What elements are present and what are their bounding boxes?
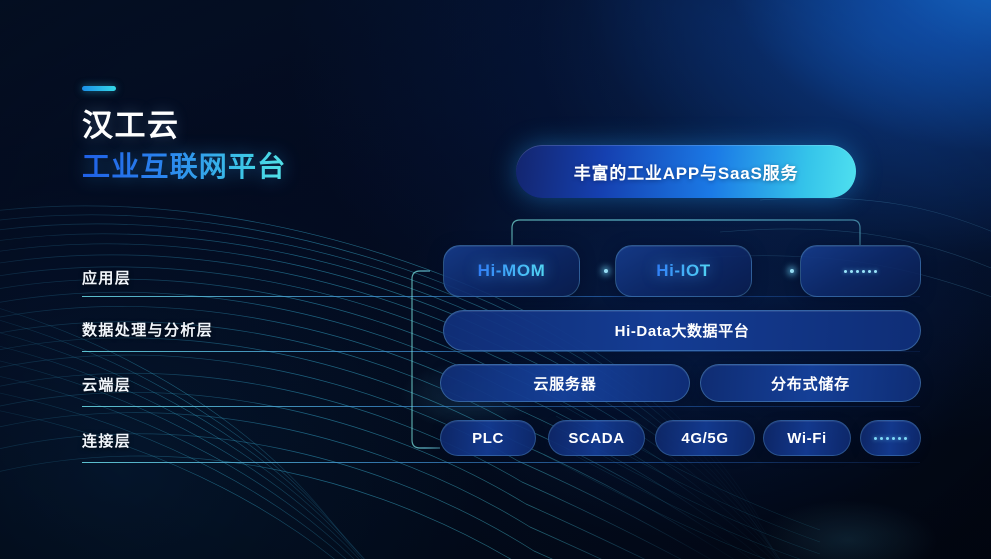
app-box-hi-mom-label: Hi-MOM — [478, 261, 546, 281]
conn-box-plc[interactable]: PLC — [440, 420, 536, 456]
slide-canvas: 汉工云 工业互联网平台 应用层 数据处理与分析层 云端层 连接层 — [0, 0, 991, 559]
cloud-box-storage[interactable]: 分布式储存 — [700, 364, 921, 402]
app-box-hi-iot[interactable]: Hi-IOT — [615, 245, 752, 297]
conn-box-4g5g[interactable]: 4G/5G — [655, 420, 755, 456]
cloud-box-storage-label: 分布式储存 — [771, 373, 850, 394]
architecture-diagram: 丰富的工业APP与SaaS服务 Hi-MOM Hi-IOT Hi-Data大数据… — [0, 0, 991, 559]
conn-box-scada-label: SCADA — [568, 430, 624, 447]
data-platform-label: Hi-Data大数据平台 — [615, 320, 750, 341]
app-box-hi-mom[interactable]: Hi-MOM — [443, 245, 580, 297]
top-banner-pill[interactable]: 丰富的工业APP与SaaS服务 — [516, 145, 856, 198]
top-banner-label: 丰富的工业APP与SaaS服务 — [574, 159, 799, 184]
app-box-hi-iot-label: Hi-IOT — [656, 261, 711, 281]
data-platform-pill[interactable]: Hi-Data大数据平台 — [443, 310, 921, 351]
connector-node-dot-2 — [790, 269, 794, 273]
ellipsis-icon-app — [844, 270, 877, 273]
conn-box-4g5g-label: 4G/5G — [681, 430, 728, 447]
cloud-box-server[interactable]: 云服务器 — [440, 364, 690, 402]
app-box-more[interactable] — [800, 245, 921, 297]
conn-box-more[interactable] — [860, 420, 921, 456]
conn-box-scada[interactable]: SCADA — [548, 420, 645, 456]
conn-box-wifi[interactable]: Wi-Fi — [763, 420, 851, 456]
connector-node-dot-1 — [604, 269, 608, 273]
cloud-box-server-label: 云服务器 — [533, 373, 596, 394]
ellipsis-icon-conn — [874, 437, 907, 440]
conn-box-wifi-label: Wi-Fi — [787, 430, 827, 447]
conn-box-plc-label: PLC — [472, 430, 504, 447]
